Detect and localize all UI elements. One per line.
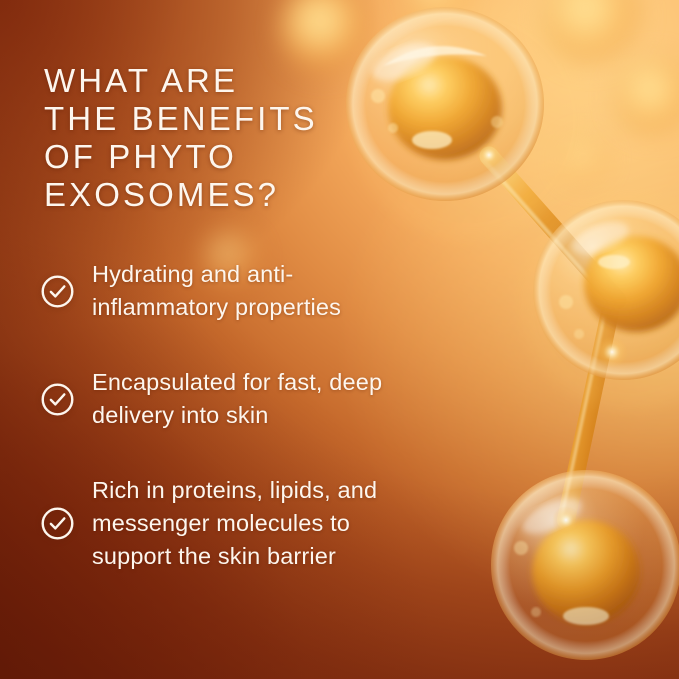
phyto-exosomes-benefits-poster: WHAT ARE THE BENEFITS OF PHYTO EXOSOMES?… <box>0 0 679 679</box>
benefits-list: Hydrating and anti- inflammatory propert… <box>40 258 510 573</box>
poster-content: WHAT ARE THE BENEFITS OF PHYTO EXOSOMES?… <box>0 0 679 679</box>
list-item: Rich in proteins, lipids, and messenger … <box>40 474 510 573</box>
list-item-label: Encapsulated for fast, deep delivery int… <box>92 366 382 432</box>
check-circle-icon <box>40 506 75 541</box>
list-item: Hydrating and anti- inflammatory propert… <box>40 258 510 324</box>
check-circle-icon <box>40 382 75 417</box>
list-item: Encapsulated for fast, deep delivery int… <box>40 366 510 432</box>
list-item-label: Rich in proteins, lipids, and messenger … <box>92 474 377 573</box>
check-circle-icon <box>40 274 75 309</box>
list-item-label: Hydrating and anti- inflammatory propert… <box>92 258 341 324</box>
page-title: WHAT ARE THE BENEFITS OF PHYTO EXOSOMES? <box>44 62 474 214</box>
